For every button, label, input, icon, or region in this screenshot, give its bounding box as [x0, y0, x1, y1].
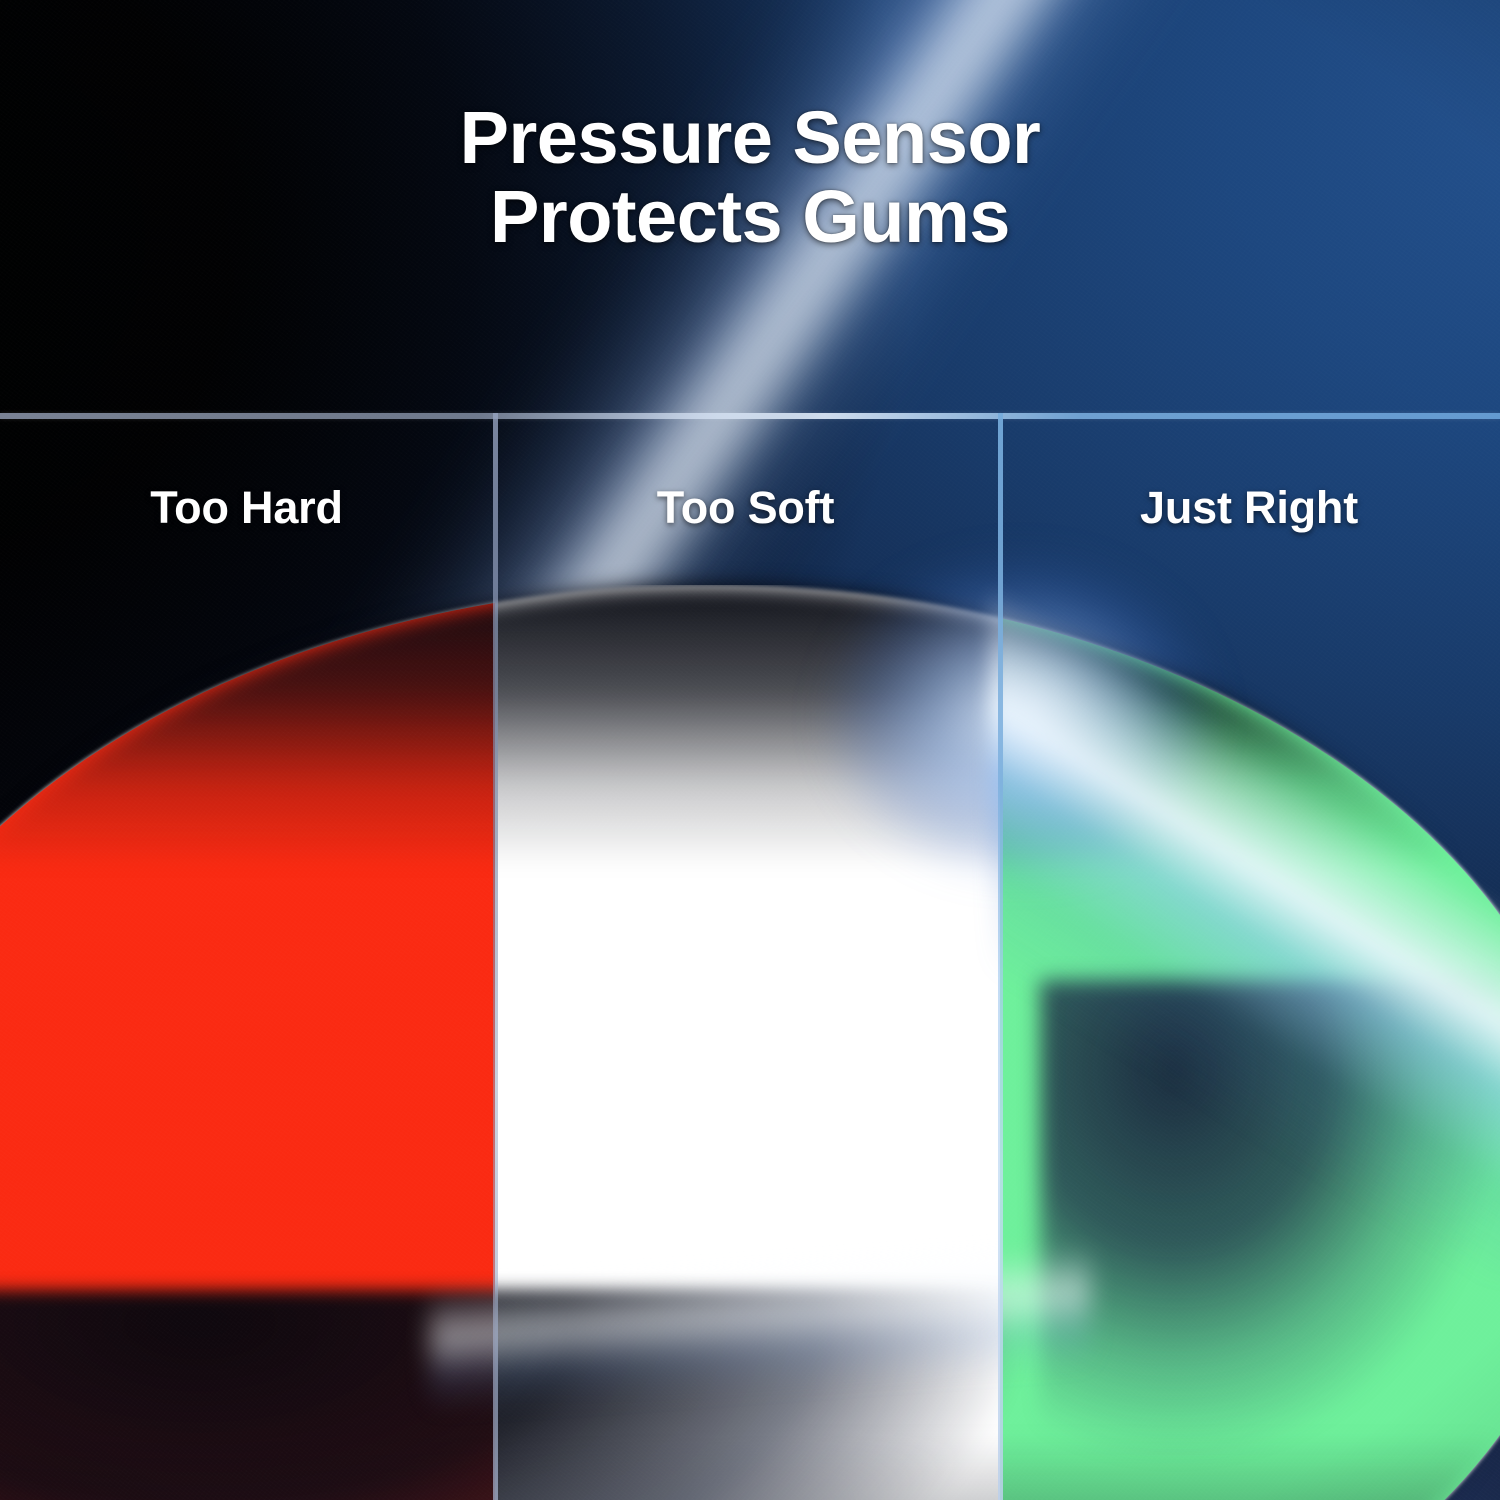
film-grain-overlay [0, 0, 1500, 1500]
column-label-just-right: Just Right [998, 482, 1500, 534]
divider-horizontal [0, 413, 1500, 419]
column-label-too-soft: Too Soft [493, 482, 998, 534]
divider-vertical-right [998, 413, 1003, 1500]
infographic-canvas: Pressure Sensor Protects Gums Too Hard T… [0, 0, 1500, 1500]
divider-vertical-left [493, 413, 498, 1500]
column-label-too-hard: Too Hard [0, 482, 493, 534]
